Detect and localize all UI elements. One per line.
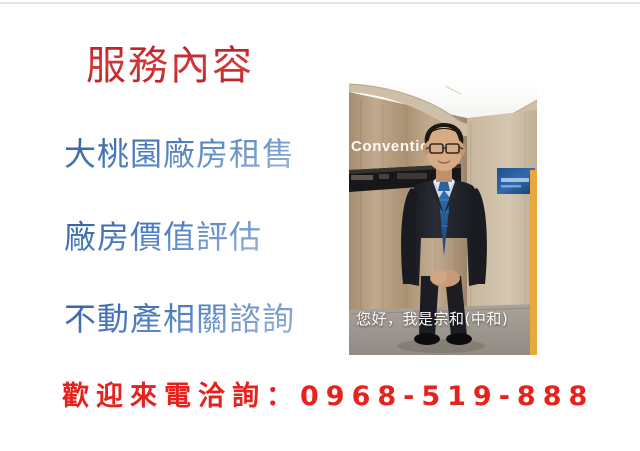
service-item-1: 大桃園廠房租售 <box>64 129 295 175</box>
contact-cta: 歡迎來電洽詢：0968-519-888 <box>62 374 594 413</box>
service-item-2: 廠房價值評估 <box>64 212 262 258</box>
slide-canvas: 服務內容 大桃園廠房租售 廠房價值評估 不動產相關諮詢 歡迎來電洽詢：0968-… <box>0 0 640 451</box>
service-item-3: 不動產相關諮詢 <box>64 294 295 340</box>
page-title: 服務內容 <box>86 33 254 91</box>
top-divider <box>0 2 640 4</box>
portrait-caption: 您好，我是宗和(中和) <box>356 308 536 329</box>
